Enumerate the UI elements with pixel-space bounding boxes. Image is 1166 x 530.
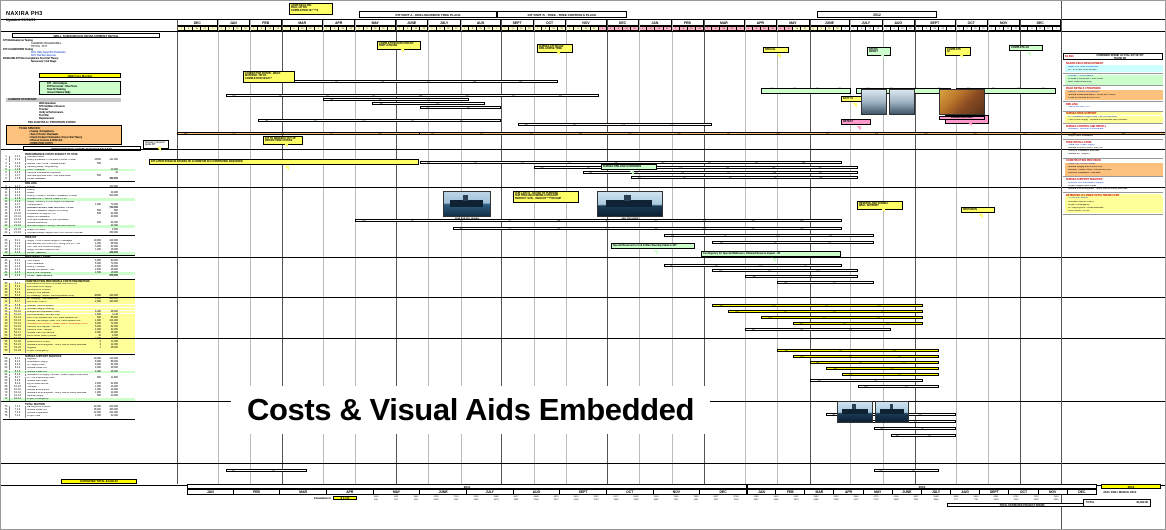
bottom-month-dec-r: DEC: [1068, 489, 1097, 495]
right-section-line-3-0: Tree Drive Unit - KIT: [1068, 106, 1162, 109]
bottom-month-feb-r: FEB: [776, 489, 805, 495]
spend-value: 4879: [547, 496, 565, 498]
bar-segment-label: 211: [567, 162, 570, 164]
spend-value-2: 1642: [1047, 499, 1065, 501]
spend-value-2: 790: [967, 499, 985, 501]
spend-value-2: 2299: [827, 499, 845, 501]
bar-constr-1[interactable]: 100137174: [777, 349, 939, 352]
spend-value-2: 1465: [467, 499, 485, 501]
header-divider: [1, 19, 1165, 20]
bar-segment-label: 100: [834, 368, 837, 370]
bar-segment-label: 248: [773, 172, 776, 174]
bar-segment-label: 174: [877, 317, 880, 319]
bar-tree-4[interactable]: 100137: [777, 281, 874, 284]
spend-value-2: 1891: [507, 499, 525, 501]
spend-value-2: 1039: [427, 499, 445, 501]
spend-value: 3344: [847, 496, 865, 498]
right-section-body-7: TREE Unit / Drive / InstallSubsea Supply…: [1065, 163, 1163, 176]
month-cell-feb-2: FEB: [250, 19, 282, 26]
legend-core-monitor: ABB Core Monitor: [39, 73, 121, 78]
bottom-month-july-r: JULY: [922, 489, 951, 495]
callout-c20[interactable]: PROVISION: [961, 207, 995, 213]
strip-value: 474: [1006, 88, 1031, 90]
bar-segment-label: 174: [902, 362, 905, 364]
bar-segment-label: 174: [427, 99, 430, 101]
bar-segment-label: 137: [724, 235, 727, 237]
bar-segment-label: 137: [467, 107, 470, 109]
bar-vessel-4[interactable]: 100137174: [712, 241, 874, 244]
bar-segment-label: 248: [460, 120, 463, 122]
bottom-year-tail: 2013: [1101, 484, 1161, 489]
bar-support-3[interactable]: 100137: [874, 427, 955, 430]
photo-rov-tooling[interactable]: [861, 89, 887, 115]
bar-segment-label: 137: [849, 356, 852, 358]
bar-vessel-3[interactable]: 100137174211: [664, 234, 875, 237]
spend-value: 6172: [607, 496, 625, 498]
callout-line-0: RETEST: [843, 121, 869, 124]
grey-block-label: CARBON STANDARD: [6, 98, 121, 102]
bar-drill-2[interactable]: 100137174: [323, 98, 469, 101]
bar-segment-label: 211: [804, 265, 807, 267]
bottom-month-oct-l: OCT: [607, 489, 654, 495]
bar-segment-label: 174: [326, 95, 329, 97]
bar-segment-label: 137: [272, 470, 275, 472]
month-cell-oct-10: OCT: [534, 19, 566, 26]
bar-segment-label: 100: [265, 120, 268, 122]
tail-total-box: TOTAL$4,092.30: [1083, 499, 1151, 507]
bar-segment-label: 285: [819, 172, 822, 174]
bar-final-2[interactable]: 100137: [874, 469, 939, 472]
bar-segment-label: 100: [896, 435, 899, 437]
right-panel-divider: [1061, 1, 1062, 529]
bottom-month-nov-l: NOV: [654, 489, 701, 495]
month-cell-june-6: JUNE: [396, 19, 428, 26]
callout-tail-c8: [629, 171, 635, 176]
bar-install-4[interactable]: 100137174: [793, 322, 923, 325]
month-gridline: [177, 19, 178, 484]
bar-segment-label: 322: [818, 167, 821, 169]
spend-value-2: 2317: [547, 499, 565, 501]
spend-value: 6361: [987, 496, 1005, 498]
callout-tail-c14: [1026, 52, 1032, 57]
photo-rig-vessel-caption: SEMI-SUB RIG VESSEL: [443, 218, 491, 221]
spend-value: 7896: [687, 496, 705, 498]
month-cell-june-18: JUNE: [810, 19, 851, 26]
phase-bar-1: KIT PART A - DRILLING/DRIVE TREE PLACE: [359, 11, 497, 18]
green-line-3: Vessel / Marine Daily: [47, 92, 70, 95]
bar-sub-2[interactable]: 100137174211248285322: [534, 166, 858, 169]
bottom-month-feb-l: FEB: [234, 489, 281, 495]
bar-segment-label: 174: [681, 172, 684, 174]
spend-value-2: 1021: [707, 499, 725, 501]
bar-segment-label: 137: [839, 350, 842, 352]
bar-segment-label: 100: [460, 228, 463, 230]
bar-constr-5[interactable]: 100137: [842, 373, 939, 376]
bottom-month-aug-r: AUG: [951, 489, 980, 495]
bottom-month-sept-l: SEPT: [560, 489, 607, 495]
bottom-month-apr-l: APR: [327, 489, 374, 495]
spend-value-2: 1252: [447, 499, 465, 501]
photo-support-vessel-2[interactable]: [875, 401, 909, 423]
bottom-month-may-r: MAY: [864, 489, 893, 495]
bar-segment-label: 248: [473, 81, 476, 83]
bottom-month-row-right: JANFEBMARAPRMAYJUNEJULYAUGSEPTOCTNOVDEC: [747, 489, 1097, 496]
spend-value: 3775: [867, 496, 885, 498]
photo-support-vessel[interactable]: [837, 401, 873, 423]
tail-total-value: $4,092.30: [1136, 501, 1148, 504]
phase-bar-2: KIT PART B - TREE - TREE CONTROLS PLACE: [497, 11, 627, 18]
callout-line-0: KIT LATER STAGE IN EXCESS OF 12 MONTHS I…: [151, 161, 417, 164]
callout-tail-c10: [653, 250, 659, 255]
bar-segment-label: 692: [974, 133, 977, 135]
callout-c10[interactable]: Special Reserved to Coil & Wire Steering…: [611, 243, 695, 249]
bar-segment-label: 137: [411, 220, 414, 222]
bar-segment-label: 618: [875, 133, 878, 135]
spend-value: 3155: [467, 496, 485, 498]
month-cell-dec-12: DEC: [607, 19, 639, 26]
right-section-body-1: SUBSET - Unit AnalyzePHASE 3 Personnel -…: [1065, 75, 1163, 85]
spend-value: 8327: [707, 496, 725, 498]
callout-c18[interactable]: Contingency for Special Walkovers, Plann…: [701, 251, 841, 257]
bar-support-4[interactable]: 100137: [891, 434, 956, 437]
bar-segment-label: 137: [874, 380, 877, 382]
bar-segment-label: 248: [378, 133, 381, 135]
bar-segment-label: 100: [638, 177, 641, 179]
bar-constr-3[interactable]: 100137174: [810, 361, 940, 364]
bottom-month-june-l: JUNE: [420, 489, 467, 495]
spend-value: 6792: [1007, 496, 1025, 498]
bar-segment-label: 100: [524, 124, 527, 126]
spend-value: 4637: [907, 496, 925, 498]
bar-segment-label: 211: [881, 311, 884, 313]
band-divider-4: [1, 338, 1165, 339]
photo-msv-provider-caption: MSV PROVIDER: [597, 218, 663, 221]
month-cell-jan-13: JAN: [639, 19, 671, 26]
document-title: NAXIRA PH3: [6, 11, 43, 17]
bar-segment-label: 433: [800, 220, 803, 222]
spend-value: 2724: [447, 496, 465, 498]
bar-segment-label: 174: [362, 120, 365, 122]
right-section-line-9-4: PROVISION TOTAL: [1068, 210, 1162, 213]
bar-segment-label: 137: [508, 228, 511, 230]
spend-value: 1189: [747, 496, 765, 498]
callout-c14[interactable]: COMPLETE AS: [1009, 45, 1043, 51]
bar-segment-label: 285: [431, 133, 434, 135]
callout-tail-c13: [958, 54, 964, 59]
spend-value: 5310: [567, 496, 585, 498]
bar-segment-label: 137: [335, 81, 338, 83]
header-section-label: WELL SUBSURFACE DEVELOPMENT DETAIL: [12, 33, 160, 38]
right-section-body-6: TREE Unit / Plant SupplySubsea Controls …: [1065, 144, 1163, 157]
bottom-month-dec-l: DEC: [700, 489, 747, 495]
callout-line-0: SPECIAL: [765, 49, 787, 52]
header-meta-line-0: KIT Mobilisation & Testing: [3, 40, 33, 43]
bar-segment-label: 174: [886, 323, 889, 325]
bar-segment-label: 100: [232, 95, 235, 97]
right-divider-9: [1063, 214, 1163, 215]
spend-value: 8758: [727, 496, 745, 498]
callout-line-0: SUBSEA DRILLING EXPANSION: [603, 166, 655, 169]
month-cell-mar-3: MAR: [282, 19, 323, 26]
spend-value: 2051: [787, 496, 805, 498]
spend-value-2: 1660: [767, 499, 785, 501]
bottom-year-tail-detail: JAN / FEB / MARCH 2013: [1103, 490, 1136, 494]
bar-install-5[interactable]: 100137174: [745, 328, 891, 331]
bar-segment-label: 211: [411, 120, 414, 122]
bar-segment-label: 137: [314, 120, 317, 122]
bar-vessel-2[interactable]: 100137174211248285322359: [453, 227, 842, 230]
band-divider-3: [1, 297, 1165, 298]
bar-segment-label: 174: [622, 124, 625, 126]
spend-value-2: 1429: [1027, 499, 1045, 501]
bar-constr-2[interactable]: 100137174: [793, 355, 939, 358]
bottom-month-july-l: JULY: [467, 489, 514, 495]
bar-segment-label: 211: [427, 81, 430, 83]
bar-segment-label: 359: [529, 133, 532, 135]
bar-segment-label: 137: [914, 421, 917, 423]
callout-tail-c5: [399, 48, 405, 53]
bar-segment-label: 137: [898, 374, 901, 376]
bar-segment-label: 137: [635, 172, 638, 174]
bar-tree-3[interactable]: 100137: [745, 275, 859, 278]
bar-segment-label: 100: [849, 374, 852, 376]
band-divider-1: [1, 187, 1165, 188]
spend-value-2: 2938: [887, 499, 905, 501]
bar-install-1[interactable]: 100137174211: [712, 304, 923, 307]
band-divider-2: [1, 257, 1165, 258]
bar-segment-label: 100: [670, 265, 673, 267]
callout-line-0: PROVISION: [963, 209, 993, 212]
bar-orange-2[interactable]: 100137174211248: [177, 132, 420, 135]
callout-tail-c9: [546, 198, 552, 203]
bar-sub-3[interactable]: 100137174211248285: [583, 171, 859, 174]
month-cell-feb-14: FEB: [672, 19, 704, 26]
bar-segment-label: 396: [752, 220, 755, 222]
bar-segment-label: 100: [589, 172, 592, 174]
spend-value-2: 400: [367, 499, 385, 501]
bar-segment-label: 137: [809, 276, 812, 278]
bar-segment-label: 100: [671, 235, 674, 237]
bar-segment-label: 174: [728, 177, 731, 179]
spend-value-2: 1678: [487, 499, 505, 501]
bar-install-2[interactable]: 100137174211: [728, 310, 923, 313]
month-cell-may-17: MAY: [777, 19, 809, 26]
bar-segment-label: 137: [822, 317, 825, 319]
derrick-shape: [463, 195, 468, 201]
bar-segment-label: 137: [905, 386, 908, 388]
year-label-top: 2012: [817, 11, 937, 18]
bar-drill-5[interactable]: 100137174211248: [258, 119, 501, 122]
spend-value: 5499: [947, 496, 965, 498]
callout-line-0: Special Reserved to Coil & Wire Steering…: [613, 245, 693, 248]
band-divider-0: [1, 149, 1165, 150]
callout-tail-c7: [284, 166, 290, 171]
bar-segment-label: 100: [379, 103, 382, 105]
spend-value-2: 2743: [587, 499, 605, 501]
header-meta-line-3: KIT CALIBRATION Testing: [3, 49, 33, 52]
callout-tail-c12: [879, 54, 885, 59]
spend-value-2: 3364: [927, 499, 945, 501]
photo-msv-provider[interactable]: [597, 191, 663, 217]
bar-segment-label: 507: [727, 133, 730, 135]
bar-segment-label: 100: [426, 107, 429, 109]
spend-value: 2482: [807, 496, 825, 498]
right-section-body-0: Super Unit Tests FORWARDKIT SYSTEM Core …: [1065, 65, 1163, 72]
callout-line-0: BATT 01: [843, 98, 861, 101]
derrick-shape: [624, 195, 631, 201]
right-section-line-4-1: Tree control supply - subsea unit estima…: [1068, 119, 1162, 122]
spend-value: 5741: [587, 496, 605, 498]
spend-value: 7034: [647, 496, 665, 498]
bar-sub-4[interactable]: 100137174211248: [631, 176, 858, 179]
orange-title: FIELD DETAILS / PROVISION 04/2009: [27, 121, 76, 124]
overlay-title: Costs & Visual Aids Embedded: [231, 386, 710, 434]
bar-segment-label: 100: [719, 270, 722, 272]
bar-segment-label: 100: [864, 386, 867, 388]
bar-segment-label: 100: [184, 133, 187, 135]
bar-segment-label: 100: [768, 317, 771, 319]
bar-segment-label: 174: [557, 228, 560, 230]
bar-segment-label: 211: [727, 172, 730, 174]
month-cell-july-19: JULY: [850, 19, 882, 26]
right-section-line-0-1: KIT SYSTEM Core Monitor: [1068, 69, 1162, 72]
callout-c8[interactable]: SUBSEA DRILLING EXPANSION: [601, 164, 657, 170]
bar-tree-2[interactable]: 100137174: [712, 269, 858, 272]
bar-segment-label: 248: [654, 228, 657, 230]
spend-value: 4017: [507, 496, 525, 498]
bar-segment-label: 137: [800, 329, 803, 331]
spend-value-2: 2512: [847, 499, 865, 501]
orange-details-block: FIELD DETAILS / PROVISION 04/2009TO BE S…: [6, 125, 122, 145]
month-cell-aug-20: AUG: [883, 19, 915, 26]
bar-kit-a[interactable]: 100137174211248285: [282, 80, 558, 83]
header-divider-2: [1, 31, 1165, 32]
spend-value-2: 1873: [787, 499, 805, 501]
spend-value-2: 2956: [607, 499, 625, 501]
spend-value-2: 2530: [567, 499, 585, 501]
table-row: 354.1.6TOTAL TREE INSTALL256,000: [3, 275, 135, 278]
bar-segment-label: 544: [776, 133, 779, 135]
bottom-month-may-l: MAY: [374, 489, 421, 495]
bottom-month-oct-r: OCT: [1009, 489, 1038, 495]
bottom-month-sept-r: SEPT: [980, 489, 1009, 495]
strip-value: 337: [784, 88, 807, 90]
spend-value-2: 3151: [907, 499, 925, 501]
table-row: 242.1.16SUBSEA Design Support with SHUTD…: [3, 232, 135, 235]
bar-segment-label: 359: [755, 162, 758, 164]
bar-segment-label: 137: [378, 99, 381, 101]
bar-segment-label: 137: [843, 323, 846, 325]
bar-segment-label: 100: [720, 242, 723, 244]
derrick-shape: [890, 404, 893, 409]
photo-subsea-equipment[interactable]: [939, 89, 985, 115]
bar-segment-label: 174: [893, 350, 896, 352]
bar-segment-label: 137: [772, 305, 775, 307]
bar-segment-label: 322: [708, 162, 711, 164]
photo-rig-vessel[interactable]: [443, 191, 491, 217]
callout-c11[interactable]: SPECIAL: [763, 47, 789, 53]
bar-segment-label: 137: [912, 470, 915, 472]
photo-rov-tooling-2[interactable]: [889, 89, 915, 115]
month-cell-apr-16: APR: [745, 19, 777, 26]
right-section-body-8: Offshore Unit Mobilisation supportProjec…: [1065, 181, 1163, 191]
bottom-month-june-r: JUNE: [893, 489, 922, 495]
tail-total-label: TOTAL: [1086, 501, 1094, 504]
bar-segment-label: 137: [573, 124, 576, 126]
bar-constr-6[interactable]: 100137: [810, 379, 924, 382]
bar-constr-7[interactable]: 100137: [858, 385, 939, 388]
spend-value: 7654: [1047, 496, 1065, 498]
spend-value-2: 826: [407, 499, 425, 501]
bottom-month-row-left: JANFEBMARAPRMAYJUNEJULYAUGSEPTOCTNOVDEC: [187, 489, 747, 496]
bar-segment-label: 137: [928, 435, 931, 437]
bar-tree-1[interactable]: 100137174211: [664, 264, 842, 267]
bar-segment-label: 100: [800, 356, 803, 358]
spend-value-2: 1003: [987, 499, 1005, 501]
callout-c15[interactable]: BATT 01: [841, 96, 863, 102]
bar-segment-label: 100: [879, 470, 882, 472]
bar-install-3[interactable]: 100137174: [761, 316, 923, 319]
strip-value: 611: [829, 88, 852, 90]
callout-tail-c17: [967, 122, 973, 127]
bar-segment-label: 359: [559, 95, 562, 97]
bar-segment-label: 285: [661, 162, 664, 164]
spend-value-2: 808: [687, 499, 705, 501]
right-header-value: $1,094: [1065, 55, 1074, 58]
bar-segment-label: 137: [890, 368, 893, 370]
bar-segment-label: 100: [752, 329, 755, 331]
callout-c16[interactable]: RETEST: [841, 119, 871, 125]
table-row: 767.1.4Project Total4,00042,000: [3, 415, 135, 418]
bar-segment-label: 100: [735, 311, 738, 313]
bar-segment-label: 137: [774, 242, 777, 244]
bar-drill-6[interactable]: 100137174211: [518, 123, 713, 126]
right-panel-header: $1,094COMBINED SPEND ACTUAL KIT OF KITPH…: [1063, 53, 1163, 60]
spend-value: 1620: [767, 496, 785, 498]
bar-drill-4[interactable]: 100137: [420, 106, 501, 109]
month-cell-oct-22: OCT: [956, 19, 988, 26]
bar-segment-label: 174: [849, 329, 852, 331]
bar-segment-label: 137: [784, 311, 787, 313]
month-cell-may-5: MAY: [355, 19, 396, 26]
month-gridline: [218, 19, 219, 484]
bar-segment-label: 655: [924, 133, 927, 135]
bar-constr-4[interactable]: 100137: [826, 367, 940, 370]
bar-drill-1[interactable]: 100137174211248285322359: [226, 94, 599, 97]
bar-segment-label: 100: [720, 305, 723, 307]
bar-final-1[interactable]: 100137: [226, 469, 307, 472]
bottom-month-nov-r: NOV: [1039, 489, 1068, 495]
spend-value-2: 3382: [647, 499, 665, 501]
spend-value-2: 2104: [527, 499, 545, 501]
bar-segment-label: 137: [683, 177, 686, 179]
bar-segment-label: 285: [519, 81, 522, 83]
month-cell-july-7: JULY: [428, 19, 460, 26]
bar-segment-label: 100: [753, 276, 756, 278]
callout-tail-c4: [283, 143, 289, 148]
callout-tail-c11: [776, 54, 782, 59]
callout-c7[interactable]: KIT LATER STAGE IN EXCESS OF 12 MONTHS I…: [149, 159, 419, 165]
spend-value-2: 577: [947, 499, 965, 501]
bar-segment-label: 729: [1023, 133, 1026, 135]
bar-segment-label: 211: [679, 167, 682, 169]
callout-tail-c19: [880, 208, 886, 213]
bar-drill-3[interactable]: 100137: [372, 102, 486, 105]
bar-segment-label: 248: [726, 167, 729, 169]
bar-segment-label: 100: [880, 428, 883, 430]
bar-segment-label: 211: [878, 305, 881, 307]
bar-segment-label: 137: [279, 95, 282, 97]
